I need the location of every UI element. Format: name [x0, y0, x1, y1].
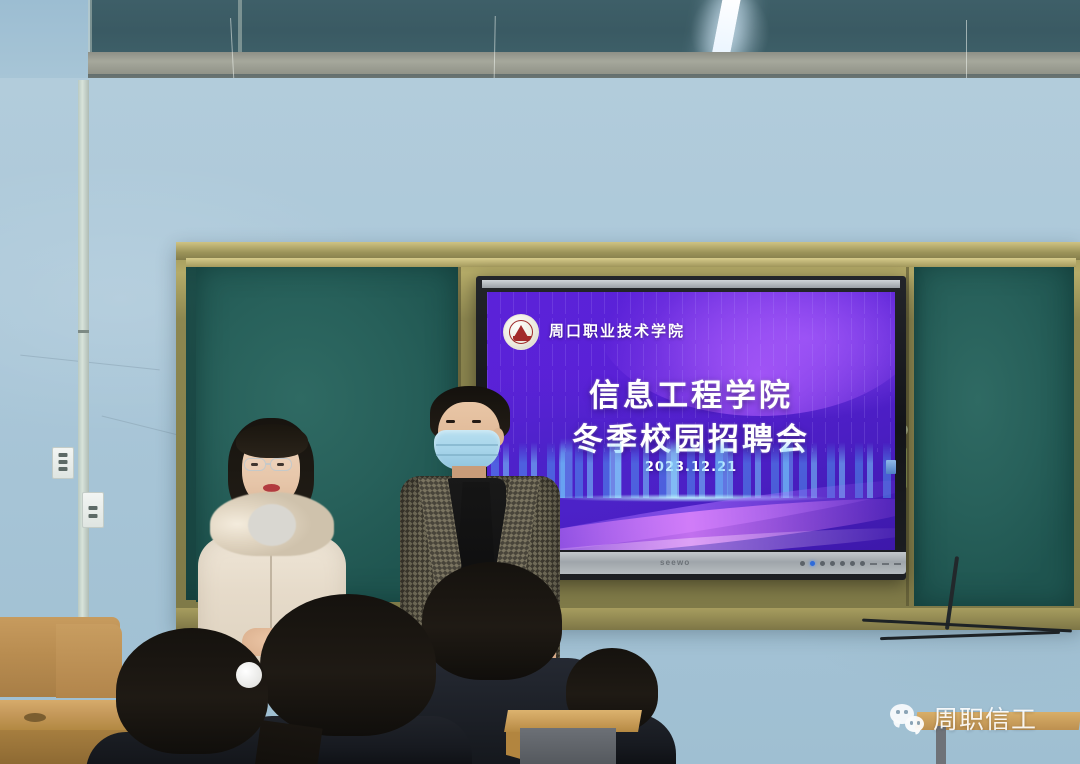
- whiteboard-brand-label: seewo: [660, 558, 690, 567]
- wall-outlet-plate[interactable]: [82, 492, 104, 528]
- switch-button[interactable]: [59, 467, 68, 471]
- student-head: [116, 628, 268, 754]
- watermark-text: 周职信工: [933, 700, 1037, 736]
- power-button-dot[interactable]: [800, 561, 805, 566]
- light-switch-plate[interactable]: [52, 447, 74, 479]
- active-indicator-dot[interactable]: [810, 561, 815, 566]
- port-slot: [894, 563, 901, 565]
- settings-button-dot[interactable]: [860, 561, 865, 566]
- desk-right-leg: [520, 728, 616, 764]
- woman-fringe: [236, 424, 308, 458]
- mask-pleat: [436, 454, 498, 456]
- wechat-eye-dot: [917, 721, 921, 725]
- chalkboard-slide-rail: [186, 258, 1076, 267]
- wechat-eye-dot: [904, 710, 908, 714]
- student-front-left: [86, 628, 316, 764]
- whiteboard-side-label: [886, 460, 896, 474]
- man-eye-left: [446, 420, 455, 423]
- volume-button-dot[interactable]: [830, 561, 835, 566]
- hair-strand: [251, 720, 322, 764]
- slide-university-name: 周口职业技术学院: [549, 320, 685, 341]
- outlet-slot: [89, 506, 98, 510]
- whiteboard-top-trim: [482, 280, 900, 288]
- port-slot: [870, 563, 877, 565]
- desk-cable-hole: [24, 713, 46, 722]
- switch-button[interactable]: [59, 460, 68, 464]
- woman-lips: [263, 484, 280, 492]
- glasses-lens-right: [270, 458, 292, 471]
- wechat-watermark: 周职信工: [890, 700, 1037, 736]
- input-button-dot[interactable]: [840, 561, 845, 566]
- wechat-icon: [890, 704, 924, 732]
- chalkboard-right-panel[interactable]: [914, 262, 1074, 606]
- glasses-bridge: [266, 463, 271, 465]
- mask-pleat: [436, 444, 498, 446]
- ceiling-corner-panel: [0, 0, 90, 78]
- man-eye-right: [472, 420, 481, 423]
- outlet-slot: [89, 514, 98, 518]
- wall-conduit: [78, 80, 89, 625]
- seal-book-emblem: [513, 336, 531, 341]
- conduit-joint: [78, 330, 89, 333]
- port-slot: [882, 563, 889, 565]
- surgical-mask: [434, 430, 500, 470]
- menu-button-dot[interactable]: [820, 561, 825, 566]
- source-button-dot[interactable]: [850, 561, 855, 566]
- classroom-photo-scene: 周口职业技术学院 信息工程学院 冬季校园招聘会 2023.12.21 seewo: [0, 0, 1080, 764]
- wechat-eye-dot: [910, 721, 914, 725]
- switch-button[interactable]: [59, 453, 68, 457]
- woman-fur-collar: [210, 492, 334, 556]
- whiteboard-control-panel[interactable]: [800, 561, 901, 566]
- college-seal-logo: [503, 314, 539, 350]
- glasses-lens-left: [244, 458, 266, 471]
- seal-inner-ring: [509, 320, 533, 344]
- hair-scrunchie: [236, 662, 262, 688]
- ceiling: [0, 0, 1080, 78]
- wechat-bubble-small: [905, 716, 924, 732]
- wechat-eye-dot: [896, 710, 900, 714]
